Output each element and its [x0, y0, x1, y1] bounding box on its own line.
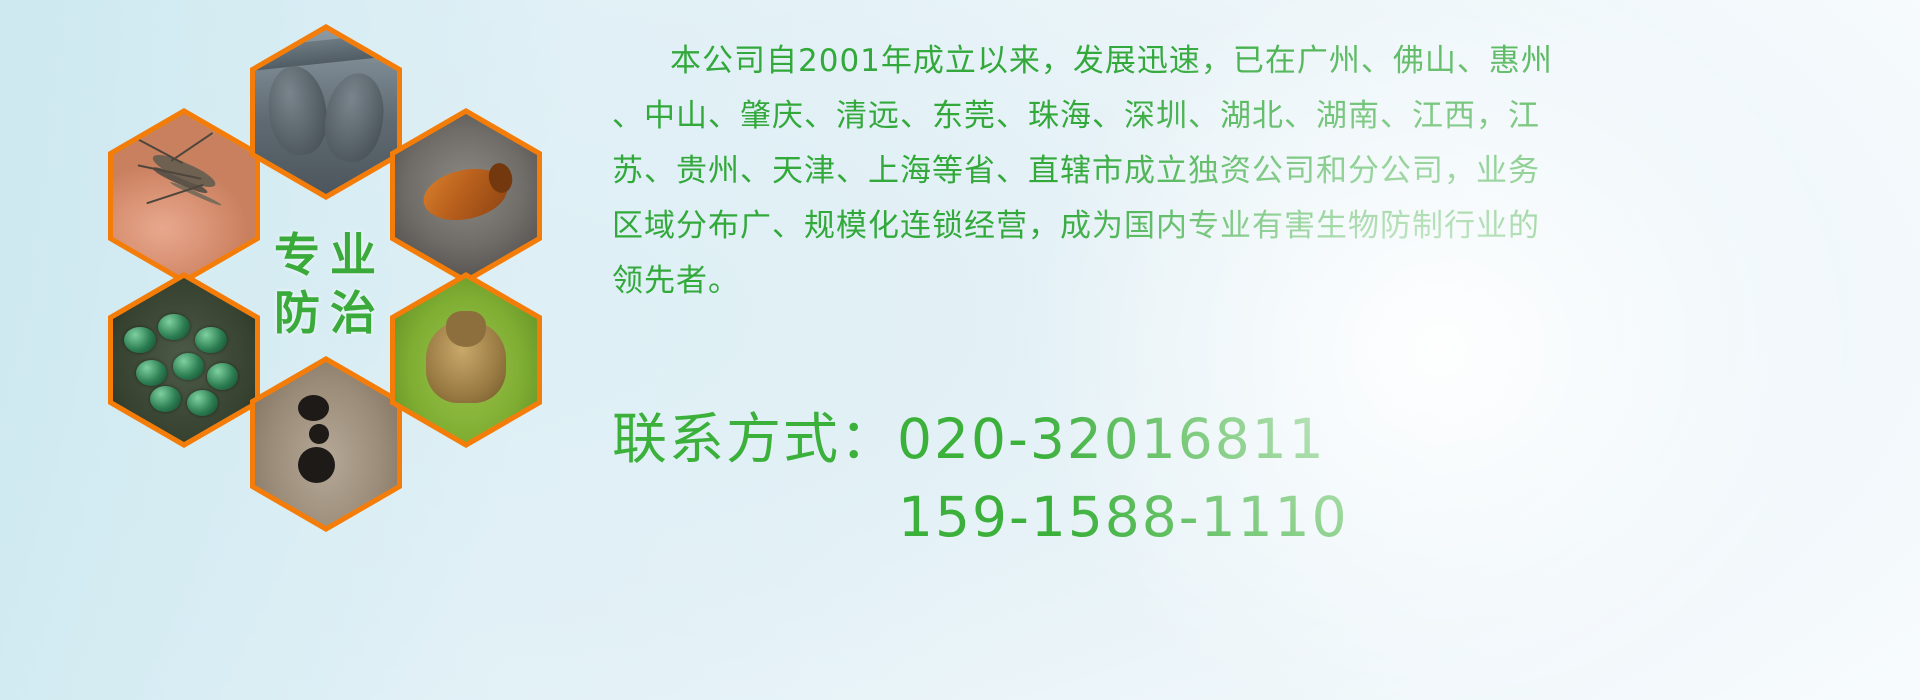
ant-photo [255, 362, 397, 526]
hex-cell-ant [250, 356, 402, 532]
contact-block: 联系方式：020-32016811 159-1588-1110 [612, 400, 1902, 556]
hex-photo-mosquito [113, 114, 255, 278]
company-intro-text: 本公司自2001年成立以来，发展迅速，已在广州、佛山、惠州 、中山、肇庆、清远、… [612, 34, 1892, 309]
intro-line-1: 本公司自2001年成立以来，发展迅速，已在广州、佛山、惠州 [612, 34, 1892, 89]
badge-line-1: 专业 [264, 232, 386, 278]
intro-line-3: 苏、贵州、天津、上海等省、直辖市成立独资公司和分公司，业务 [612, 144, 1892, 199]
rat-surface [255, 32, 397, 70]
mosquito-legs [130, 140, 238, 232]
honeycomb-image-cluster: 专业 防治 [90, 8, 590, 548]
badge-line-2: 防治 [264, 290, 386, 336]
hex-photo-flies [113, 278, 255, 442]
intro-line-5: 领先者。 [612, 254, 1892, 309]
stink-bug-photo [395, 278, 537, 442]
hex-photo-rat [255, 30, 397, 194]
stink-bug-shield [446, 311, 486, 347]
mosquito-photo [113, 114, 255, 278]
rat-body-left [263, 63, 332, 159]
hex-cell-cockroach [390, 108, 542, 284]
rat-body-right [319, 69, 389, 165]
hex-cell-stink-bug [390, 272, 542, 448]
hex-photo-cockroach [395, 114, 537, 278]
company-intro-banner: 专业 防治 本公司自2001年成立以来，发展迅速，已在广州、佛山、惠州 、中山、… [0, 0, 1920, 700]
hex-photo-stink-bug [395, 278, 537, 442]
contact-phone-primary[interactable]: 联系方式：020-32016811 [612, 400, 1902, 478]
hex-cell-flies [108, 272, 260, 448]
hex-cell-rat [250, 24, 402, 200]
badge-text: 专业 防治 [242, 188, 408, 380]
honeycomb-center-badge: 专业 防治 [242, 188, 408, 380]
intro-line-4: 区域分布广、规模化连锁经营，成为国内专业有害生物防制行业的 [612, 199, 1892, 254]
cockroach-photo [395, 114, 537, 278]
intro-line-2: 、中山、肇庆、清远、东莞、珠海、深圳、湖北、湖南、江西，江 [612, 89, 1892, 144]
hex-photo-ant [255, 362, 397, 526]
contact-phone-mobile[interactable]: 159-1588-1110 [612, 478, 1902, 556]
flies-photo [113, 278, 255, 442]
hex-cell-mosquito [108, 108, 260, 284]
rat-photo [255, 30, 397, 194]
